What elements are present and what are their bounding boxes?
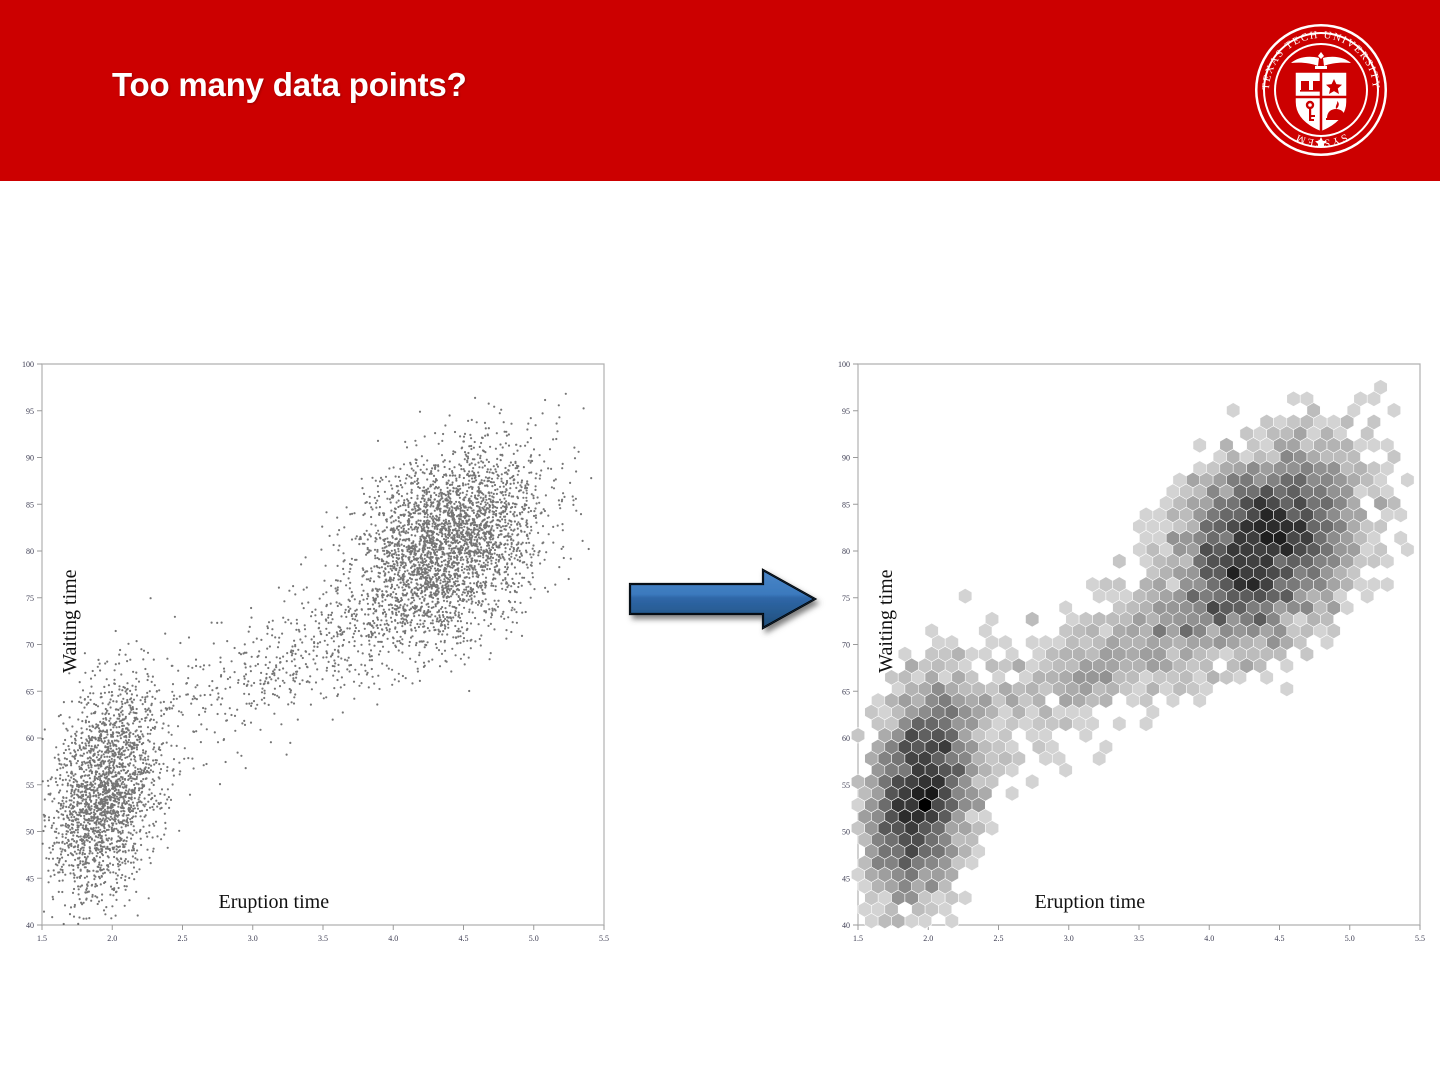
x-axis-tick-label: 4.0 xyxy=(388,934,398,943)
y-axis-tick-label: 100 xyxy=(22,360,34,369)
x-axis-tick-label: 5.5 xyxy=(1415,934,1425,943)
x-axis-tick-label: 5.0 xyxy=(1345,934,1355,943)
y-axis-tick-label: 45 xyxy=(26,874,34,883)
hexbin-plot: 4045505560657075808590951001.52.02.53.03… xyxy=(826,350,1436,950)
texas-tech-university-system-logo: TEXAS TECH UNIVERSITY SYSTEM xyxy=(1253,22,1389,158)
x-axis-tick-label: 2.5 xyxy=(994,934,1004,943)
y-axis-tick-label: 65 xyxy=(26,687,34,696)
y-axis-tick-label: 70 xyxy=(26,641,34,650)
x-axis-tick-label: 4.5 xyxy=(459,934,469,943)
transformation-arrow xyxy=(620,562,830,642)
right-arrow-icon xyxy=(620,562,830,642)
x-axis-label: Eruption time xyxy=(219,891,330,913)
hexbin-cells xyxy=(851,379,1414,928)
y-axis-label: Waiting time xyxy=(875,569,897,672)
y-axis-tick-label: 45 xyxy=(842,874,850,883)
x-axis-tick-label: 3.5 xyxy=(318,934,328,943)
y-axis-tick-label: 50 xyxy=(26,828,34,837)
y-axis-tick-label: 70 xyxy=(842,641,850,650)
x-axis-tick-label: 1.5 xyxy=(37,934,47,943)
x-axis-tick-label: 5.5 xyxy=(599,934,609,943)
y-axis-tick-label: 50 xyxy=(842,828,850,837)
y-axis-tick-label: 60 xyxy=(842,734,850,743)
y-axis-tick-label: 95 xyxy=(26,407,34,416)
y-axis-tick-label: 90 xyxy=(842,454,850,463)
scatter-plot: 4045505560657075808590951001.52.02.53.03… xyxy=(10,350,620,950)
y-axis-tick-label: 80 xyxy=(26,547,34,556)
x-axis-tick-label: 4.5 xyxy=(1275,934,1285,943)
y-axis-tick-label: 85 xyxy=(842,500,850,509)
y-axis-tick-label: 100 xyxy=(838,360,850,369)
y-axis-tick-label: 95 xyxy=(842,407,850,416)
y-axis-tick-label: 65 xyxy=(842,687,850,696)
x-axis-tick-label: 3.5 xyxy=(1134,934,1144,943)
x-axis-tick-label: 2.5 xyxy=(178,934,188,943)
x-axis-tick-label: 2.0 xyxy=(107,934,117,943)
page-title: Too many data points? xyxy=(112,66,467,104)
scatter-points xyxy=(41,393,592,925)
y-axis-tick-label: 80 xyxy=(842,547,850,556)
x-axis-tick-label: 4.0 xyxy=(1204,934,1214,943)
hexbin-plot-panel: 4045505560657075808590951001.52.02.53.03… xyxy=(826,350,1436,950)
x-axis-tick-label: 3.0 xyxy=(1064,934,1074,943)
x-axis-tick-label: 5.0 xyxy=(529,934,539,943)
y-axis-tick-label: 85 xyxy=(26,500,34,509)
y-axis-tick-label: 55 xyxy=(26,781,34,790)
scatter-plot-panel: 4045505560657075808590951001.52.02.53.03… xyxy=(10,350,620,950)
x-axis-tick-label: 3.0 xyxy=(248,934,258,943)
y-axis-tick-label: 60 xyxy=(26,734,34,743)
seal-icon: TEXAS TECH UNIVERSITY SYSTEM xyxy=(1253,22,1389,158)
x-axis-tick-label: 1.5 xyxy=(853,934,863,943)
y-axis-tick-label: 90 xyxy=(26,454,34,463)
y-axis-tick-label: 75 xyxy=(26,594,34,603)
y-axis-tick-label: 40 xyxy=(26,921,34,930)
x-axis-label: Eruption time xyxy=(1035,891,1146,913)
y-axis-label: Waiting time xyxy=(59,569,81,672)
y-axis-tick-label: 40 xyxy=(842,921,850,930)
x-axis-tick-label: 2.0 xyxy=(923,934,933,943)
y-axis-tick-label: 55 xyxy=(842,781,850,790)
y-axis-tick-label: 75 xyxy=(842,594,850,603)
